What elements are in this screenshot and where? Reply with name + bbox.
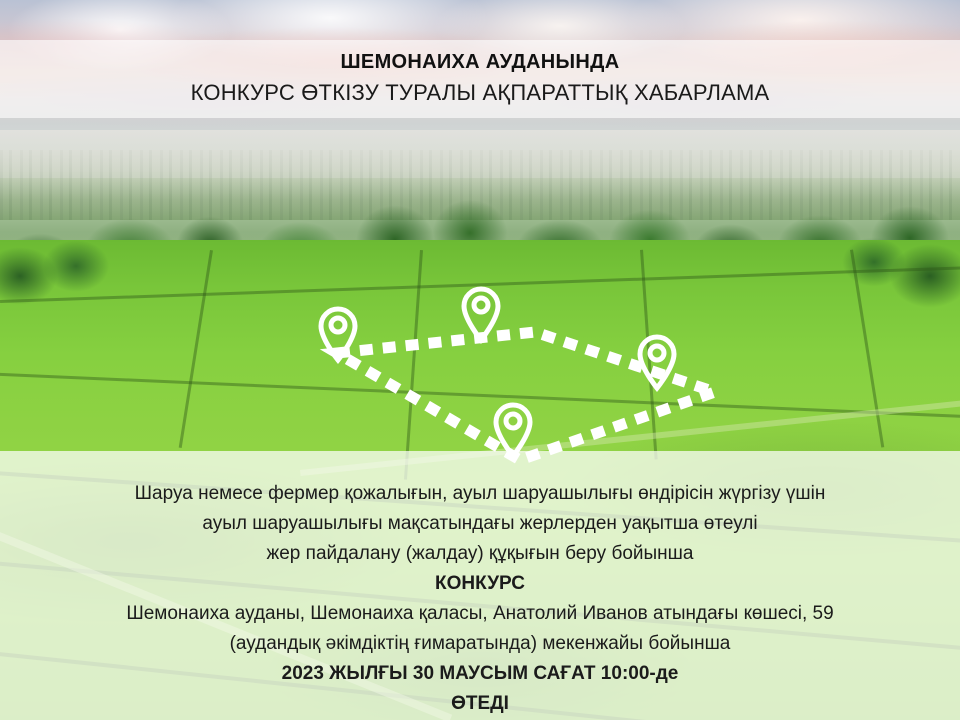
announcement-address-line: Шемонаиха ауданы, Шемонаиха қаласы, Анат… [126, 599, 833, 629]
announcement-text-band: Шаруа немесе фермер қожалығын, ауыл шару… [0, 451, 960, 720]
announcement-closing: ӨТЕДІ [451, 689, 509, 719]
announcement-keyword: КОНКУРС [435, 569, 525, 599]
tree-cluster-left [0, 236, 110, 326]
announcement-line: Шаруа немесе фермер қожалығын, ауыл шару… [135, 479, 826, 509]
announcement-address-line: (аудандық әкімдіктің ғимаратында) мекенж… [230, 629, 731, 659]
poster-root: ШЕМОНАИХА АУДАНЫНДА КОНКУРС ӨТКІЗУ ТУРАЛ… [0, 0, 960, 720]
page-title-primary: ШЕМОНАИХА АУДАНЫНДА [341, 50, 620, 75]
announcement-line: жер пайдалану (жалдау) құқығын беру бойы… [267, 539, 694, 569]
announcement-line: ауыл шаруашылығы мақсатындағы жерлерден … [202, 509, 757, 539]
title-band: ШЕМОНАИХА АУДАНЫНДА КОНКУРС ӨТКІЗУ ТУРАЛ… [0, 40, 960, 118]
announcement-datetime: 2023 ЖЫЛҒЫ 30 МАУСЫМ САҒАТ 10:00-де [282, 659, 679, 689]
page-title-secondary: КОНКУРС ӨТКІЗУ ТУРАЛЫ АҚПАРАТТЫҚ ХАБАРЛА… [191, 79, 770, 108]
